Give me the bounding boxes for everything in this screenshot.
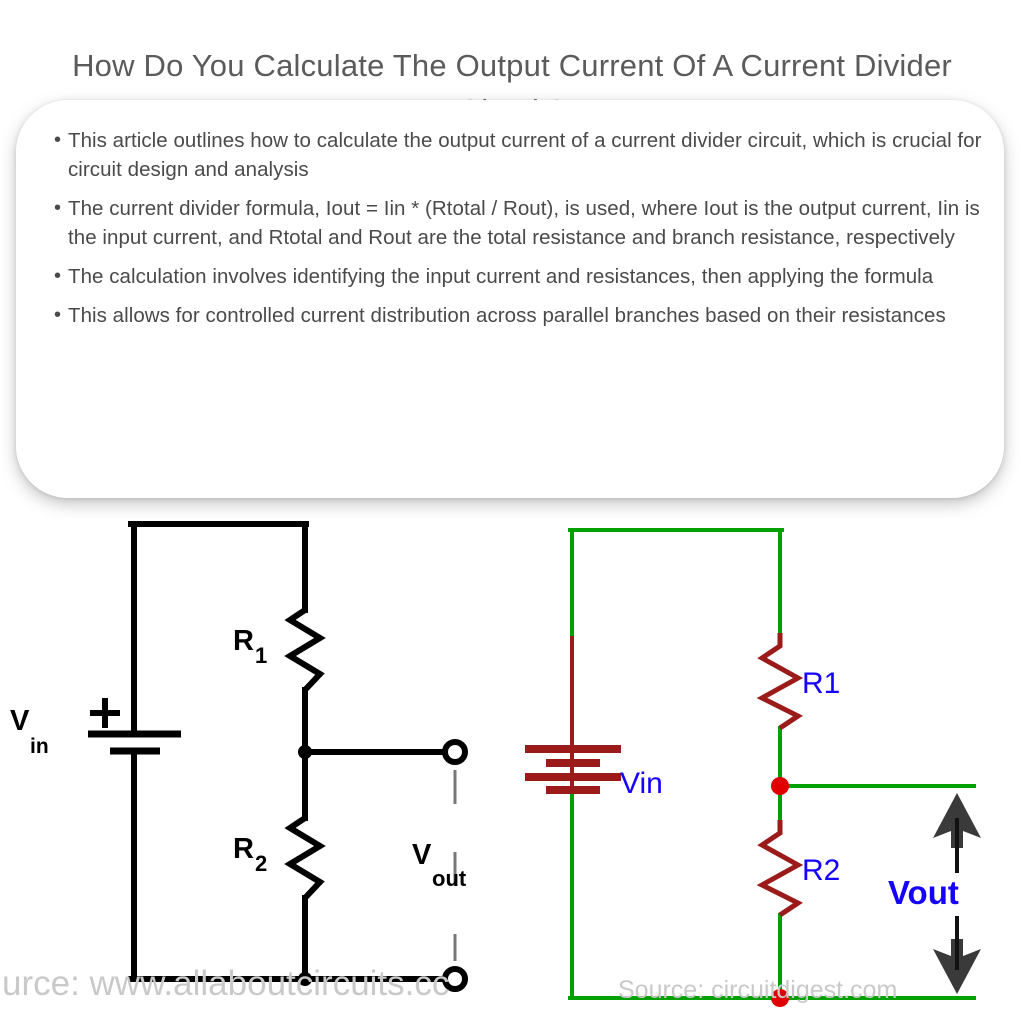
bullet-marker-icon: • xyxy=(52,262,68,291)
left-circuit-diagram: V in xyxy=(0,498,500,1024)
list-item-text: This article outlines how to calculate t… xyxy=(68,126,982,184)
battery-symbol-icon xyxy=(88,734,181,751)
resistor-r1-symbol xyxy=(762,633,798,728)
diagram-area: V in xyxy=(0,498,1024,1024)
watermark-circuitdigest: Source: circuitdigest.com xyxy=(618,976,897,1004)
right-circuit-diagram: Vin R1 R2 Vout Source: circuitdigest.com xyxy=(500,498,1024,1024)
list-item-text: The current divider formula, Iout = Iin … xyxy=(68,194,982,252)
vout-label-main: V xyxy=(412,839,432,871)
resistor-r2-symbol xyxy=(290,818,320,898)
junction-dot-top xyxy=(298,745,312,759)
plus-sign-icon xyxy=(90,698,120,728)
r1-label-main: R xyxy=(233,625,254,657)
bullet-marker-icon: • xyxy=(52,301,68,330)
bullet-list: • This article outlines how to calculate… xyxy=(52,126,982,340)
r2-label: R2 xyxy=(802,854,840,887)
vin-label-sub: in xyxy=(30,735,49,758)
vout-label: Vout xyxy=(888,874,959,911)
bullet-marker-icon: • xyxy=(52,194,68,223)
r2-label-sub: 2 xyxy=(255,851,267,876)
output-terminal-top xyxy=(445,742,465,762)
r1-label: R1 xyxy=(802,667,840,700)
watermark-allaboutcircuits: urce: www.allaboutcircuits.cc xyxy=(2,964,449,1003)
list-item-text: The calculation involves identifying the… xyxy=(68,262,982,291)
resistor-r2-symbol xyxy=(762,820,798,915)
list-item: • The calculation involves identifying t… xyxy=(52,262,982,291)
resistor-r1-symbol xyxy=(290,610,320,690)
vout-label-sub: out xyxy=(432,866,467,891)
junction-node-top xyxy=(771,777,789,795)
right-circuit-wires xyxy=(570,530,974,998)
page-root: How Do You Calculate The Output Current … xyxy=(0,0,1024,1024)
list-item-text: This allows for controlled current distr… xyxy=(68,301,982,330)
left-circuit-wires xyxy=(131,524,448,979)
r2-label-main: R xyxy=(233,833,254,865)
vin-label: Vin xyxy=(620,767,663,800)
vin-label-main: V xyxy=(10,705,30,737)
list-item: • The current divider formula, Iout = Ii… xyxy=(52,194,982,252)
summary-card: • This article outlines how to calculate… xyxy=(16,100,1004,498)
list-item: • This article outlines how to calculate… xyxy=(52,126,982,184)
bullet-marker-icon: • xyxy=(52,126,68,155)
list-item: • This allows for controlled current dis… xyxy=(52,301,982,330)
r1-label-sub: 1 xyxy=(255,643,267,668)
